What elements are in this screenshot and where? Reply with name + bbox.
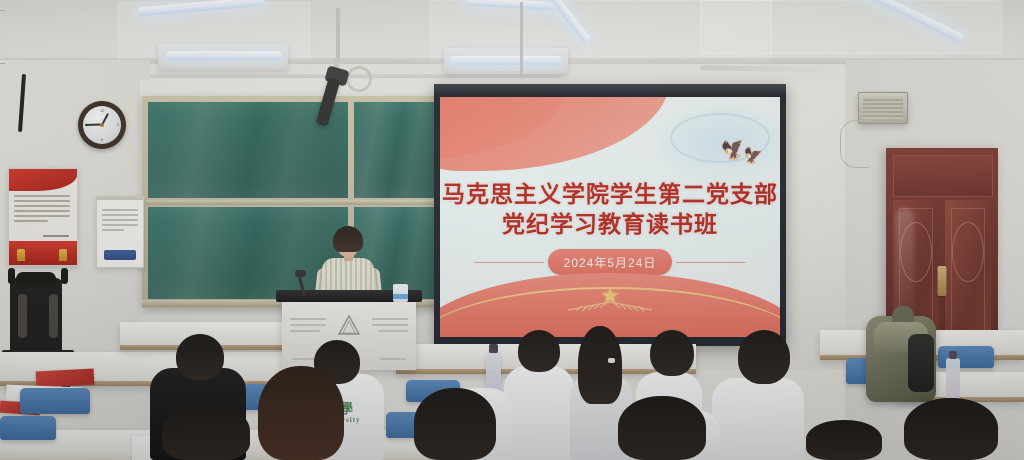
- poster-text-block: [14, 195, 72, 225]
- student-head: [414, 388, 496, 460]
- red-booklet[interactable]: [36, 368, 95, 387]
- student-head: [578, 326, 622, 404]
- student-head: [162, 404, 250, 460]
- student-head: [650, 330, 694, 376]
- date-rule-right: [676, 262, 746, 263]
- student-head: [518, 330, 560, 372]
- clock-face: 12 3 6 9: [83, 106, 121, 144]
- university-emblem: [337, 314, 361, 336]
- classroom-photo: 🦅 🦅 马克思主义学院学生第二党支部 党纪学习教育读书班 2024年5月24日 …: [0, 0, 1024, 460]
- poster-attribution: [43, 235, 69, 237]
- slide-date-badge: 2024年5月24日: [548, 249, 672, 275]
- panel-rail: [96, 196, 144, 200]
- paper-cup-band: [393, 294, 408, 299]
- student-torso: [712, 378, 804, 460]
- classroom-chair[interactable]: [0, 416, 56, 440]
- door-transom: [893, 155, 993, 197]
- student-head: [258, 366, 344, 460]
- student-head: [618, 396, 706, 460]
- bottle-cap: [489, 344, 498, 353]
- student-torso: [504, 366, 574, 460]
- microphone-icon: [295, 270, 306, 277]
- light-housing: [158, 44, 288, 70]
- clock-tick: 12: [100, 108, 104, 113]
- wall-cable: [0, 10, 5, 64]
- green-chalkboard: [142, 96, 440, 308]
- panel-badge: [104, 250, 136, 260]
- camera-ring-icon: [346, 66, 372, 92]
- wall-clock: 12 3 6 9: [78, 101, 126, 149]
- ceiling-rod: [520, 2, 523, 76]
- propaganda-poster: [8, 168, 78, 266]
- backpack[interactable]: [866, 316, 936, 402]
- paper-cup[interactable]: [393, 284, 408, 302]
- student-head: [176, 334, 224, 380]
- presenter-hair: [333, 226, 363, 252]
- backpack-side-pocket: [908, 334, 934, 392]
- poster-flag-graphic: [9, 169, 77, 191]
- wheat-icon: [608, 297, 654, 313]
- clock-tick: 6: [101, 137, 103, 142]
- poster-base-graphic: [9, 241, 77, 265]
- ceiling-rod: [336, 8, 340, 62]
- wheat-icon: [566, 297, 612, 313]
- presentation-slide: 🦅 🦅 马克思主义学院学生第二党支部 党纪学习教育读书班 2024年5月24日 …: [440, 97, 780, 337]
- ceiling-panel: [700, 0, 1002, 54]
- classroom-chair[interactable]: [20, 388, 90, 414]
- chalkboard-rail: [146, 200, 436, 205]
- date-rule-left: [474, 262, 544, 263]
- door-handle[interactable]: [938, 266, 947, 296]
- slide-title-line1: 马克思主义学院学生第二党支部: [440, 175, 780, 209]
- student-head: [806, 420, 882, 460]
- slide-title-line2: 党纪学习教育读书班: [440, 205, 780, 239]
- clock-center-pin: [100, 123, 104, 127]
- speaker-cable: [840, 120, 869, 168]
- light-housing: [444, 48, 568, 74]
- bottle-cap: [949, 351, 957, 359]
- student-head: [904, 398, 998, 460]
- projection-screen-top-bar: [434, 84, 786, 97]
- clock-tick: 3: [117, 122, 119, 127]
- speaker-grille: [863, 97, 903, 119]
- wall-notice-panel[interactable]: [96, 196, 144, 268]
- dove-icon: 🦅: [742, 148, 763, 165]
- student-head: [738, 330, 790, 384]
- chalkboard-panel: [354, 102, 434, 198]
